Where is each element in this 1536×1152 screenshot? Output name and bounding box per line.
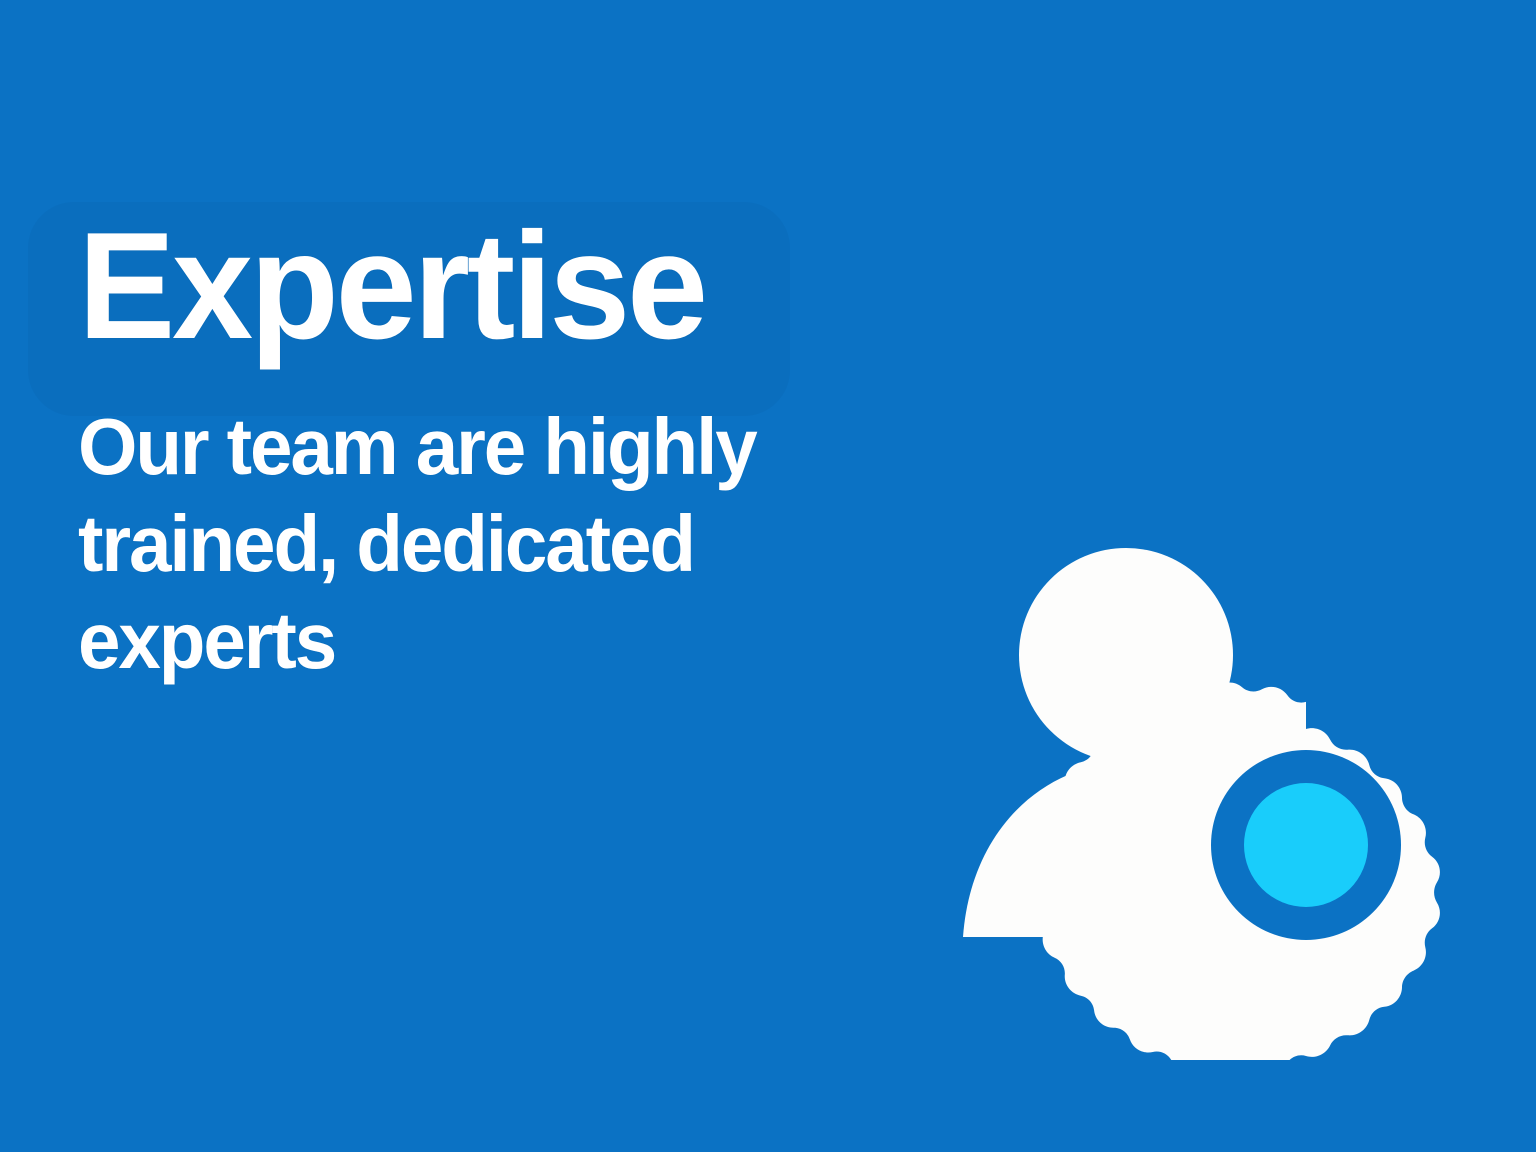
page-title: Expertise [78, 210, 923, 362]
subtitle-line-2: trained, dedicated [78, 495, 918, 592]
rosette-center [1244, 783, 1368, 907]
page-subtitle: Our team are highly trained, dedicated e… [78, 362, 918, 689]
text-block: Expertise Our team are highly trained, d… [78, 210, 958, 689]
subtitle-line-3: experts [78, 592, 918, 689]
expertise-slide: Expertise Our team are highly trained, d… [0, 0, 1536, 1152]
person-with-certification-badge-icon [930, 520, 1470, 1060]
subtitle-line-1: Our team are highly [78, 398, 918, 495]
